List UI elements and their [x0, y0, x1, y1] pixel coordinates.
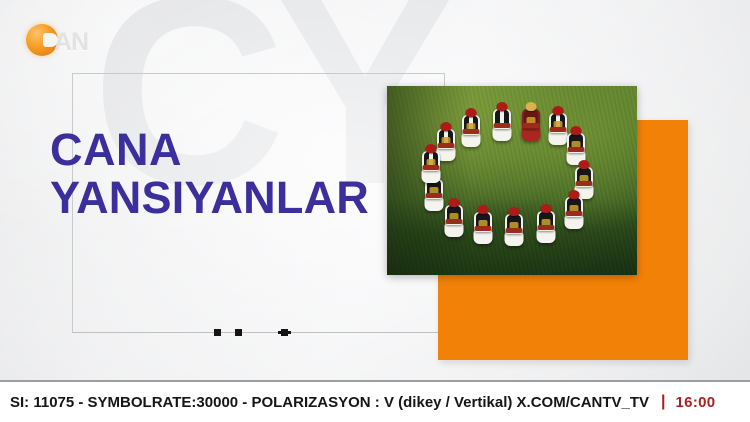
dancer-sash	[576, 181, 593, 186]
dancer-skirt	[565, 215, 584, 229]
dancer-sash	[446, 219, 463, 224]
dancer-fez-icon	[541, 204, 552, 213]
title-frame-baseline	[72, 332, 447, 333]
dancer-fez-icon	[426, 144, 437, 153]
dancer-fez-icon	[497, 102, 508, 111]
dancer-skirt	[537, 229, 556, 243]
logo-wordmark: AN	[54, 28, 88, 57]
dancer-skirt	[474, 230, 493, 244]
dancer-sash	[494, 123, 511, 128]
program-title: CANA YANSIYANLAR	[50, 126, 369, 222]
dancer-sash	[550, 127, 567, 132]
photo-dancer	[460, 108, 482, 148]
channel-logo: AN	[26, 22, 122, 60]
dancer-fez-icon	[571, 126, 582, 135]
dancer-skirt	[445, 223, 464, 237]
photo-dancer	[420, 144, 442, 184]
bottom-ticker-bar: SI: 11075 - SYMBOLRATE:30000 - POLARIZAS…	[0, 380, 750, 422]
program-title-line-2: YANSIYANLAR	[50, 174, 369, 222]
photo-dancer	[535, 204, 557, 244]
ticker-clock: 16:00	[676, 394, 716, 411]
timeline-marker	[214, 329, 221, 336]
dancer-sash	[568, 147, 585, 152]
dancer-sash	[566, 211, 583, 216]
photo-dancer	[491, 102, 513, 142]
ticker-separator: |	[661, 393, 665, 411]
photo-dancer	[520, 102, 542, 142]
dancer-fez-icon	[526, 102, 537, 111]
dancer-skirt	[425, 197, 444, 211]
dancer-skirt	[505, 232, 524, 246]
program-photo	[387, 86, 637, 275]
timeline-marker	[235, 329, 242, 336]
dancer-sash	[423, 165, 440, 170]
photo-dancer	[472, 205, 494, 245]
dancer-sash	[523, 123, 540, 128]
dancer-fez-icon	[509, 207, 520, 216]
dancer-skirt	[522, 127, 541, 141]
dancer-fez-icon	[553, 106, 564, 115]
dancer-skirt	[462, 133, 481, 147]
program-title-line-1: CANA	[50, 124, 182, 175]
tv-broadcast-screen: CY CANA YANSIYANLAR AN SI: 11075 - SYMBO…	[0, 0, 750, 422]
dancer-sash	[475, 226, 492, 231]
dancer-sash	[538, 225, 555, 230]
dancer-sash	[506, 228, 523, 233]
dancer-fez-icon	[478, 205, 489, 214]
dancer-fez-icon	[569, 190, 580, 199]
photo-dancer	[443, 198, 465, 238]
dancer-sash	[426, 193, 443, 198]
dancer-fez-icon	[441, 122, 452, 131]
ticker-info-text: SI: 11075 - SYMBOLRATE:30000 - POLARIZAS…	[0, 394, 649, 411]
dancer-sash	[463, 129, 480, 134]
dancer-skirt	[422, 169, 441, 183]
photo-dancer	[503, 207, 525, 247]
timeline-marker	[281, 329, 288, 336]
photo-dancer	[563, 190, 585, 230]
dancer-skirt	[493, 127, 512, 141]
dancer-fez-icon	[449, 198, 460, 207]
dancer-fez-icon	[579, 160, 590, 169]
dancer-fez-icon	[466, 108, 477, 117]
